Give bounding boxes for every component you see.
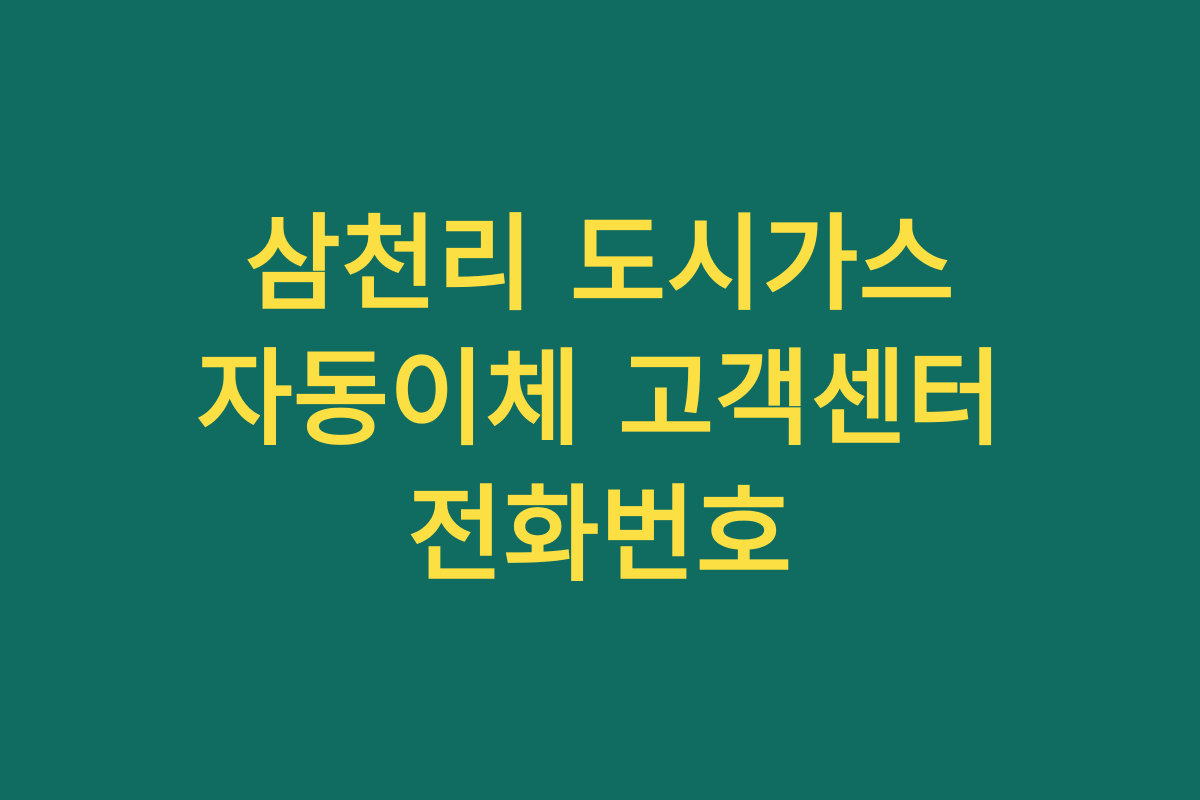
banner-canvas: 삼천리 도시가스 자동이체 고객센터 전화번호	[0, 0, 1200, 800]
banner-headline: 삼천리 도시가스 자동이체 고객센터 전화번호	[95, 197, 1105, 603]
